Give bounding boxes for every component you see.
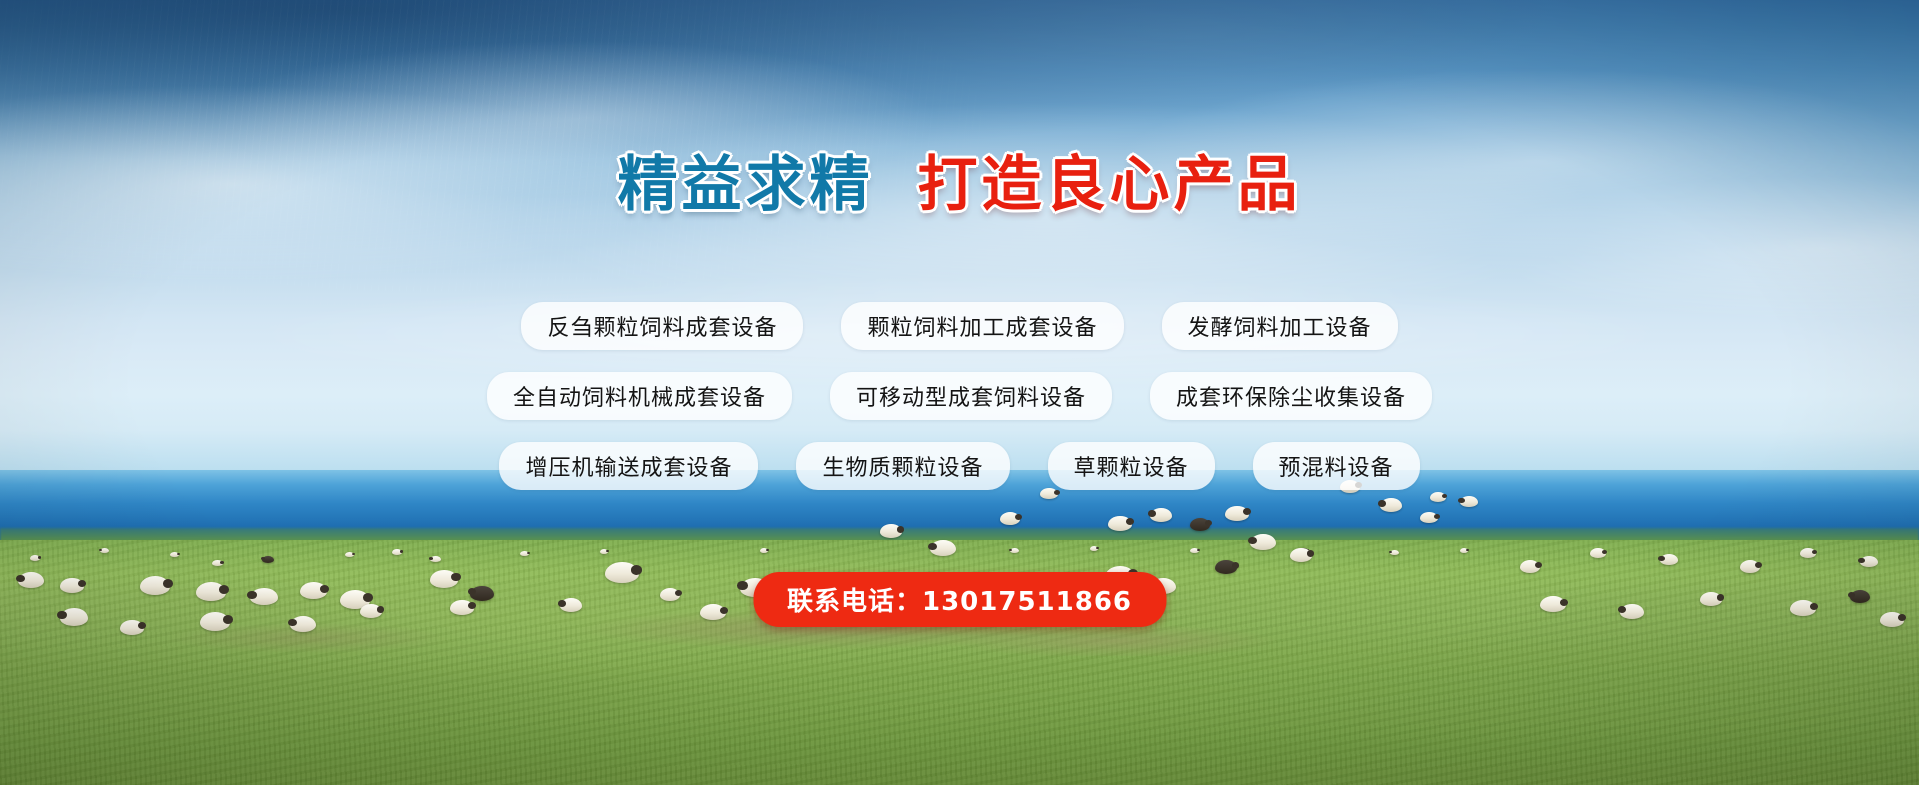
headline-part-1: 精益求精: [618, 136, 874, 223]
product-category-row: 反刍颗粒饲料成套设备颗粒饲料加工成套设备发酵饲料加工设备: [0, 302, 1919, 350]
product-category-pill[interactable]: 全自动饲料机械成套设备: [487, 372, 792, 420]
promo-banner: 精益求精打造良心产品 反刍颗粒饲料成套设备颗粒饲料加工成套设备发酵饲料加工设备全…: [0, 0, 1919, 785]
product-category-list: 反刍颗粒饲料成套设备颗粒饲料加工成套设备发酵饲料加工设备全自动饲料机械成套设备可…: [0, 302, 1919, 512]
product-category-pill[interactable]: 颗粒饲料加工成套设备: [841, 302, 1123, 350]
product-category-row: 全自动饲料机械成套设备可移动型成套饲料设备成套环保除尘收集设备: [0, 372, 1919, 420]
product-category-row: 增压机输送成套设备生物质颗粒设备草颗粒设备预混料设备: [0, 442, 1919, 490]
product-category-pill[interactable]: 反刍颗粒饲料成套设备: [521, 302, 803, 350]
banner-headline: 精益求精打造良心产品: [0, 136, 1919, 223]
product-category-pill[interactable]: 发酵饲料加工设备: [1162, 302, 1398, 350]
product-category-pill[interactable]: 生物质颗粒设备: [796, 442, 1009, 490]
product-category-pill[interactable]: 成套环保除尘收集设备: [1150, 372, 1432, 420]
contact-phone-button[interactable]: 联系电话：13017511866: [753, 572, 1166, 627]
product-category-pill[interactable]: 预混料设备: [1253, 442, 1420, 490]
product-category-pill[interactable]: 可移动型成套饲料设备: [830, 372, 1112, 420]
headline-part-2: 打造良心产品: [918, 136, 1302, 223]
product-category-pill[interactable]: 增压机输送成套设备: [499, 442, 758, 490]
product-category-pill[interactable]: 草颗粒设备: [1048, 442, 1215, 490]
